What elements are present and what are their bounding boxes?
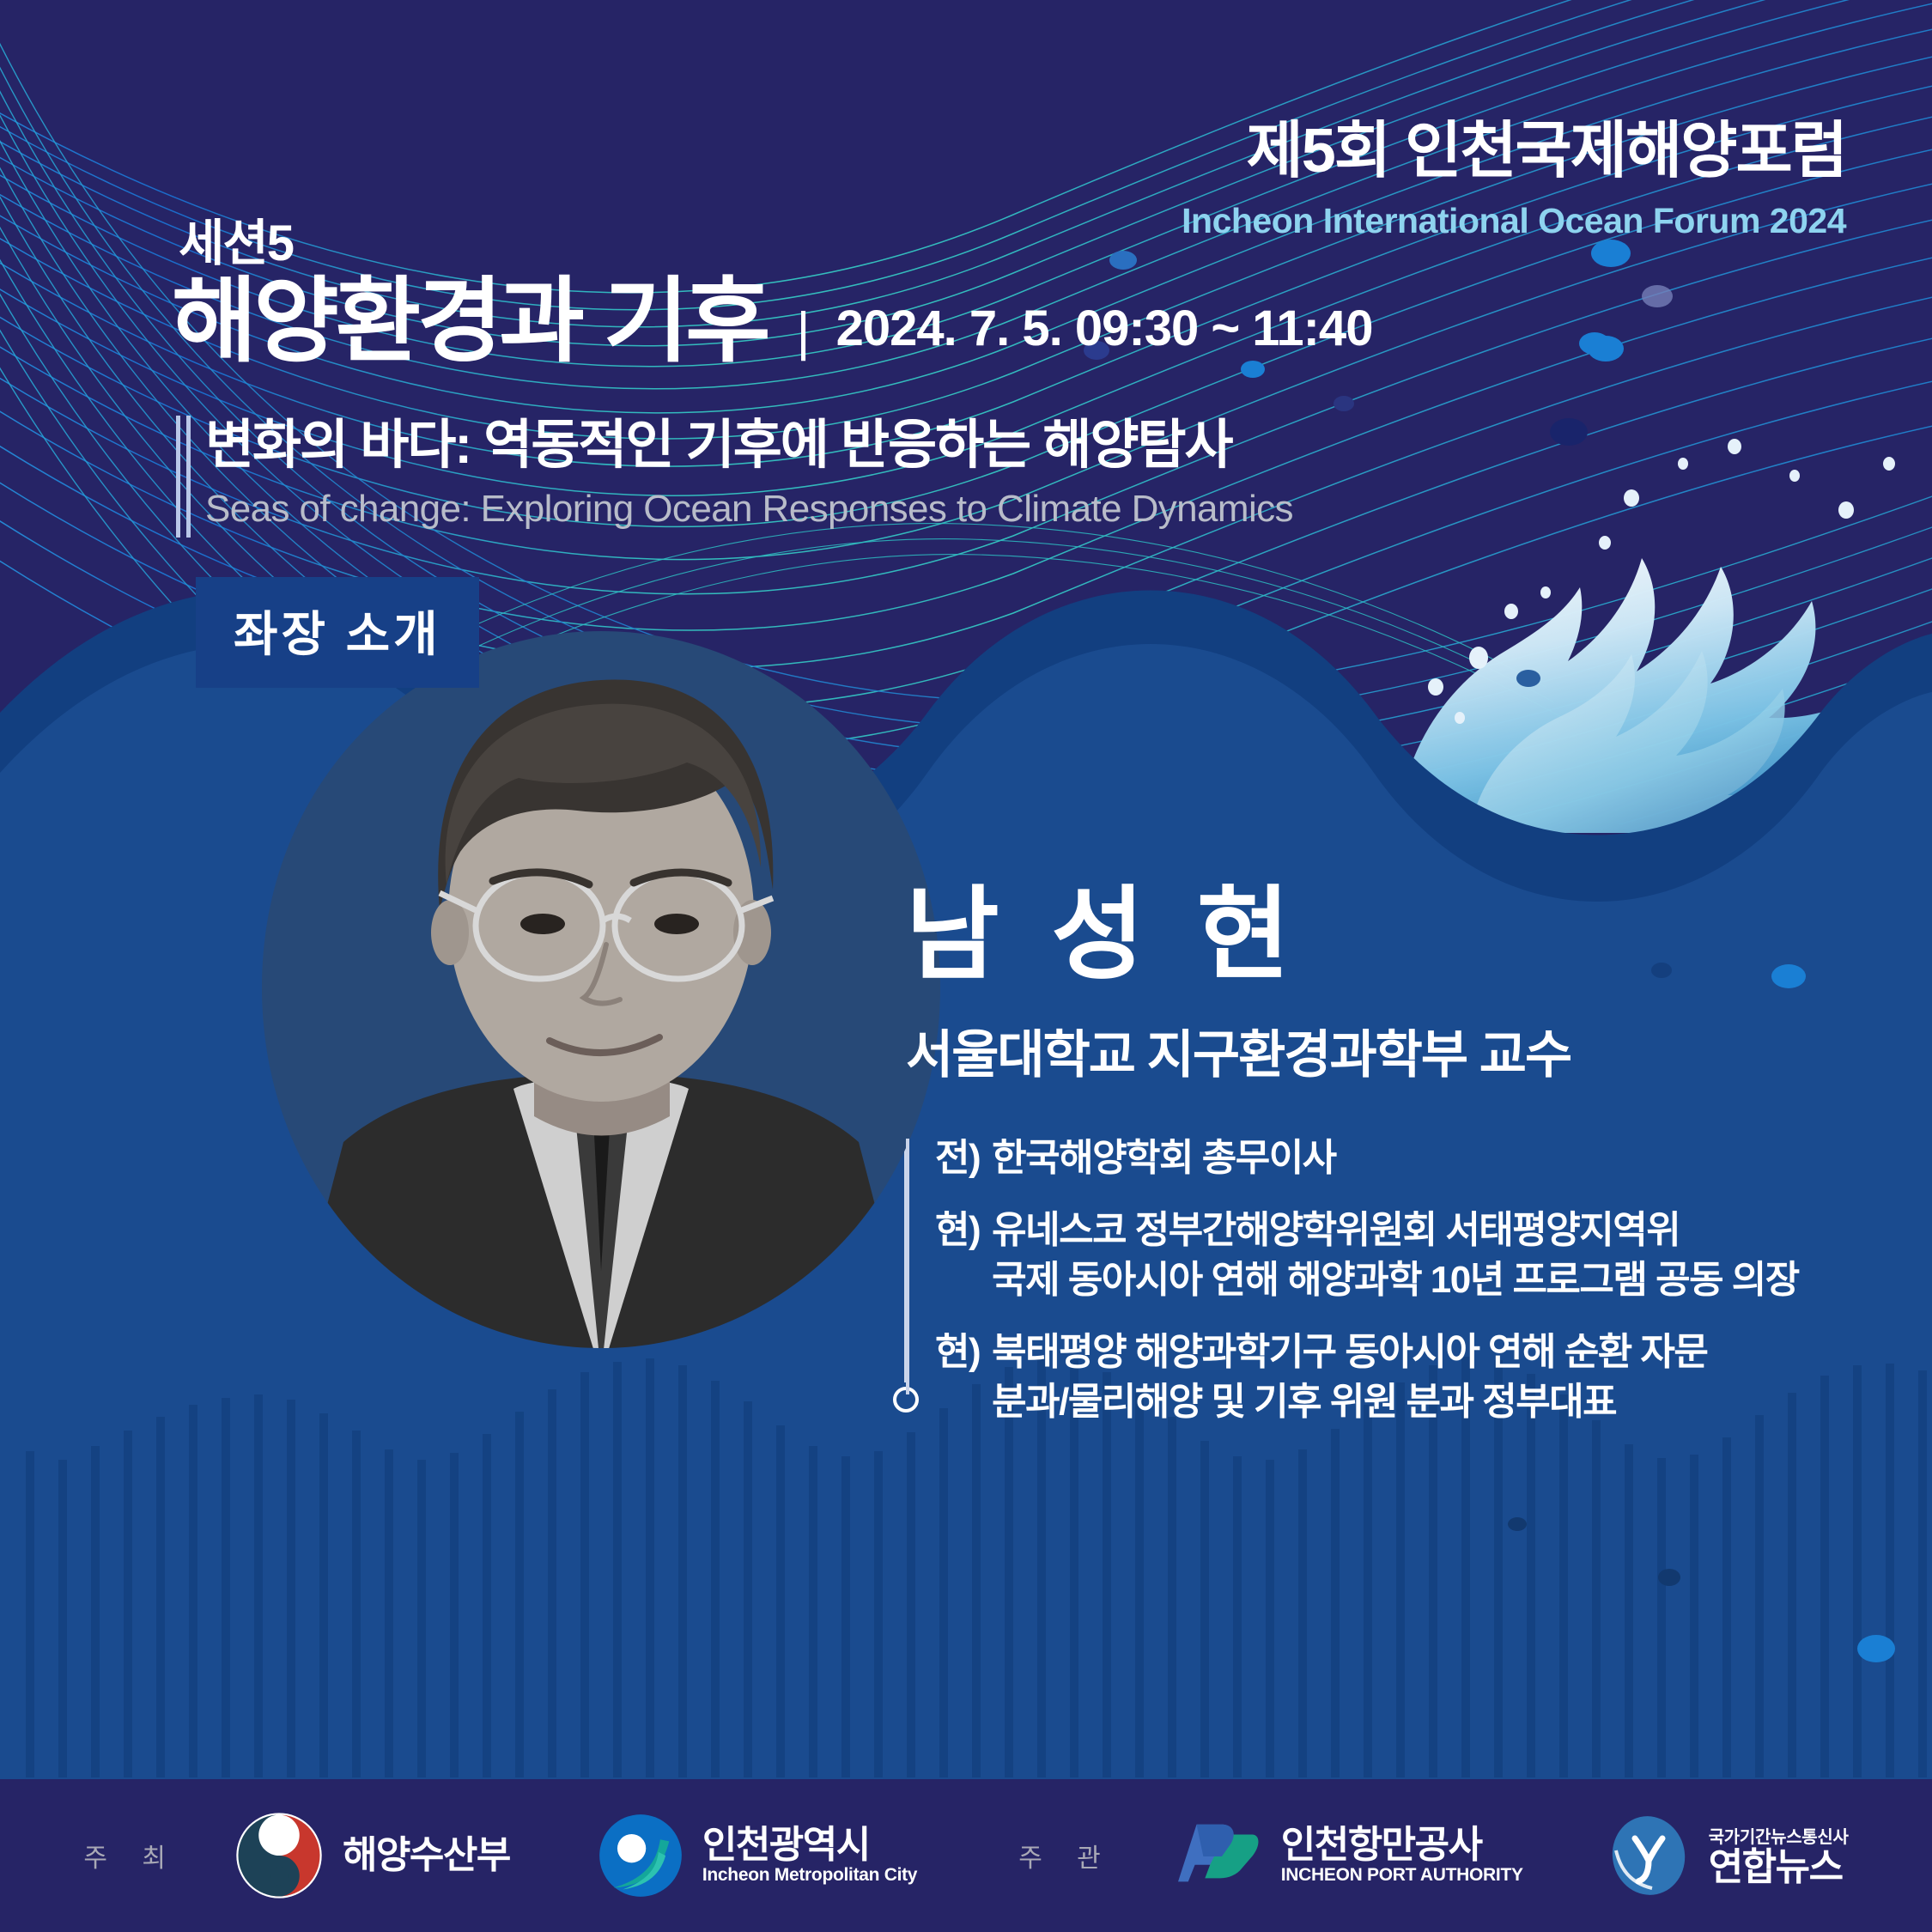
logo-label-ko: 해양수산부 xyxy=(343,1836,510,1875)
bio-line: 국제 동아시아 연해 해양과학 10년 프로그램 공동 의장 xyxy=(992,1255,1799,1305)
logo-incheon-port-authority: 인천항만공사 INCHEON PORT AUTHORITY xyxy=(1171,1816,1523,1895)
speaker-affiliation: 서울대학교 지구환경과학부 교수 xyxy=(906,1013,1571,1088)
bio-item: 현) 유네스코 정부간해양학위원회 서태평양지역위 국제 동아시아 연해 해양과… xyxy=(935,1206,1799,1305)
logo-yonhap-news: 국가기간뉴스통신사 연합뉴스 xyxy=(1606,1813,1849,1899)
bio-line: 한국해양학회 총무이사 xyxy=(992,1133,1336,1183)
bio-line: 북태평양 해양과학기구 동아시아 연해 순환 자문 xyxy=(992,1327,1707,1377)
title-separator: | xyxy=(797,306,811,359)
yonhap-news-icon xyxy=(1606,1813,1692,1899)
speaker-name: 남 성 현 xyxy=(906,884,1571,986)
session-title-row: 해양환경과 기후 | 2024. 7. 5. 09:30 ~ 11:40 xyxy=(172,275,1372,368)
bio-line: 유네스코 정부간해양학위원회 서태평양지역위 xyxy=(992,1206,1799,1255)
bio-key: 현) xyxy=(935,1327,992,1377)
speaker-bio-list: 전) 한국해양학회 총무이사 현) 유네스코 정부간해양학위원회 서태평양지역위… xyxy=(906,1133,1799,1427)
forum-title-en: Incheon International Ocean Forum 2024 xyxy=(1182,201,1846,241)
logo-label-en: Incheon Metropolitan City xyxy=(702,1865,917,1886)
session-subtitle: 변화의 바다: 역동적인 기후에 반응하는 해양탐사 Seas of chang… xyxy=(176,412,1293,531)
logo-label-ko: 연합뉴스 xyxy=(1709,1848,1849,1887)
bio-line: 분과/물리해양 및 기후 위원 분과 정부대표 xyxy=(992,1377,1707,1427)
bio-lines: 한국해양학회 총무이사 xyxy=(992,1133,1336,1183)
logo-incheon-metropolitan-city: 인천광역시 Incheon Metropolitan City xyxy=(596,1811,917,1900)
chair-intro-badge: 좌장 소개 xyxy=(196,577,479,688)
bio-item: 현) 북태평양 해양과학기구 동아시아 연해 순환 자문 분과/물리해양 및 기… xyxy=(935,1327,1799,1427)
incheon-port-authority-icon xyxy=(1171,1816,1264,1895)
korea-government-taegeuk-icon xyxy=(233,1809,325,1902)
bio-item: 전) 한국해양학회 총무이사 xyxy=(935,1133,1799,1183)
bio-key: 현) xyxy=(935,1206,992,1255)
bio-lines: 유네스코 정부간해양학위원회 서태평양지역위 국제 동아시아 연해 해양과학 1… xyxy=(992,1206,1799,1305)
footer-bar: 주 최 해양수산부 인천광역시 xyxy=(0,1779,1932,1932)
bio-lines: 북태평양 해양과학기구 동아시아 연해 순환 자문 분과/물리해양 및 기후 위… xyxy=(992,1327,1707,1427)
forum-title-ko: 제5회 인천국제해양포럼 xyxy=(1182,120,1846,182)
forum-branding: 제5회 인천국제해양포럼 Incheon International Ocean… xyxy=(1182,120,1846,241)
session-tag: 세션5 xyxy=(179,203,293,275)
logo-ministry-of-oceans: 해양수산부 xyxy=(233,1809,510,1902)
speaker-block: 남 성 현 서울대학교 지구환경과학부 교수 xyxy=(906,884,1571,1088)
subtitle-ko: 변화의 바다: 역동적인 기후에 반응하는 해양탐사 xyxy=(205,412,1293,479)
incheon-city-swirl-icon xyxy=(596,1811,685,1900)
host-label: 주 최 xyxy=(83,1837,179,1874)
poster-canvas: 제5회 인천국제해양포럼 Incheon International Ocean… xyxy=(0,0,1932,1932)
session-title-ko: 해양환경과 기후 xyxy=(172,275,768,368)
logo-label-ko: 인천항만공사 xyxy=(1281,1826,1523,1865)
session-datetime: 2024. 7. 5. 09:30 ~ 11:40 xyxy=(836,300,1373,368)
logo-label-sup: 국가기간뉴스통신사 xyxy=(1709,1823,1849,1848)
logo-label-en: INCHEON PORT AUTHORITY xyxy=(1281,1865,1523,1886)
organizer-label: 주 관 xyxy=(1018,1837,1115,1874)
subtitle-en: Seas of change: Exploring Ocean Response… xyxy=(205,488,1293,531)
bio-key: 전) xyxy=(935,1133,992,1183)
logo-label-ko: 인천광역시 xyxy=(702,1826,917,1865)
